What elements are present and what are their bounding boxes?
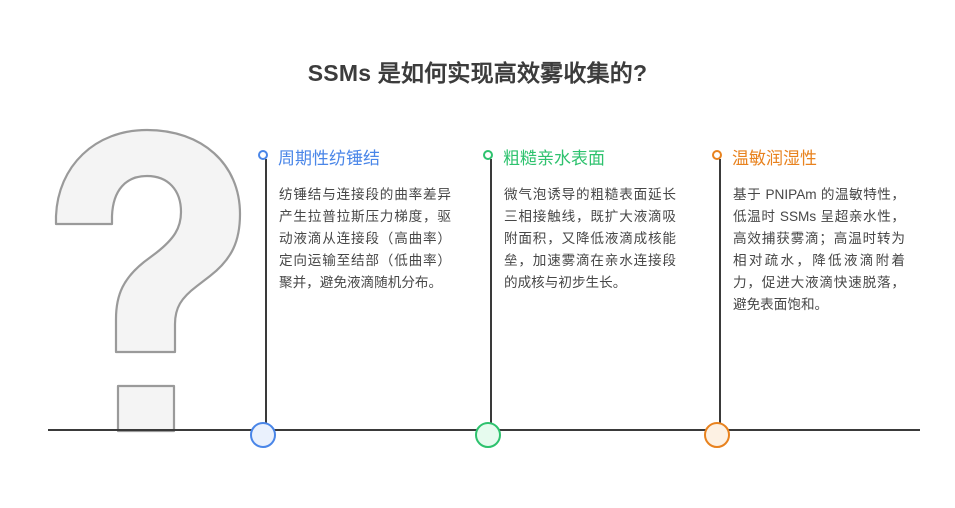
card-body: 基于 PNIPAm 的温敏特性，低温时 SSMs 呈超亲水性，高效捕获雾滴；高温… [733, 184, 905, 316]
timeline-node-top-thermoresponsive-wettability [712, 150, 722, 160]
timeline-node-top-rough-hydrophilic-surface [483, 150, 493, 160]
timeline-node-bottom-thermoresponsive-wettability [704, 422, 730, 448]
infographic-canvas: SSMs 是如何实现高效雾收集的? 周期性纺锤结 纺锤结与连接段的曲率差异产生拉… [0, 0, 955, 508]
timeline-node-bottom-periodic-spindle-knot [250, 422, 276, 448]
timeline-stem [265, 159, 267, 431]
question-mark-icon [52, 128, 242, 434]
card-heading: 周期性纺锤结 [278, 144, 380, 169]
card-heading: 温敏润湿性 [732, 144, 817, 169]
card-body: 纺锤结与连接段的曲率差异产生拉普拉斯压力梯度，驱动液滴从连接段（高曲率）定向运输… [279, 184, 451, 294]
timeline-node-top-periodic-spindle-knot [258, 150, 268, 160]
timeline-node-bottom-rough-hydrophilic-surface [475, 422, 501, 448]
page-title: SSMs 是如何实现高效雾收集的? [0, 54, 955, 88]
card-body: 微气泡诱导的粗糙表面延长三相接触线，既扩大液滴吸附面积，又降低液滴成核能垒，加速… [504, 184, 676, 294]
timeline-stem [719, 159, 721, 431]
timeline-stem [490, 159, 492, 431]
card-heading: 粗糙亲水表面 [503, 144, 605, 169]
